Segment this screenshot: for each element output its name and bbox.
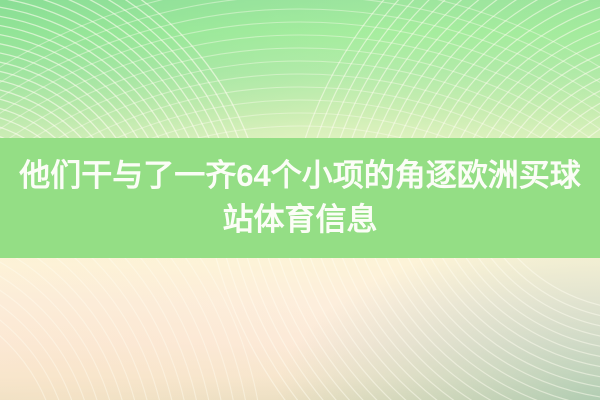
headline-band: 他们干与了一齐64个小项的角逐欧洲买球站体育信息 (0, 138, 600, 258)
page-title: 他们干与了一齐64个小项的角逐欧洲买球站体育信息 (0, 154, 600, 242)
article-banner: 他们干与了一齐64个小项的角逐欧洲买球站体育信息 (0, 0, 600, 400)
